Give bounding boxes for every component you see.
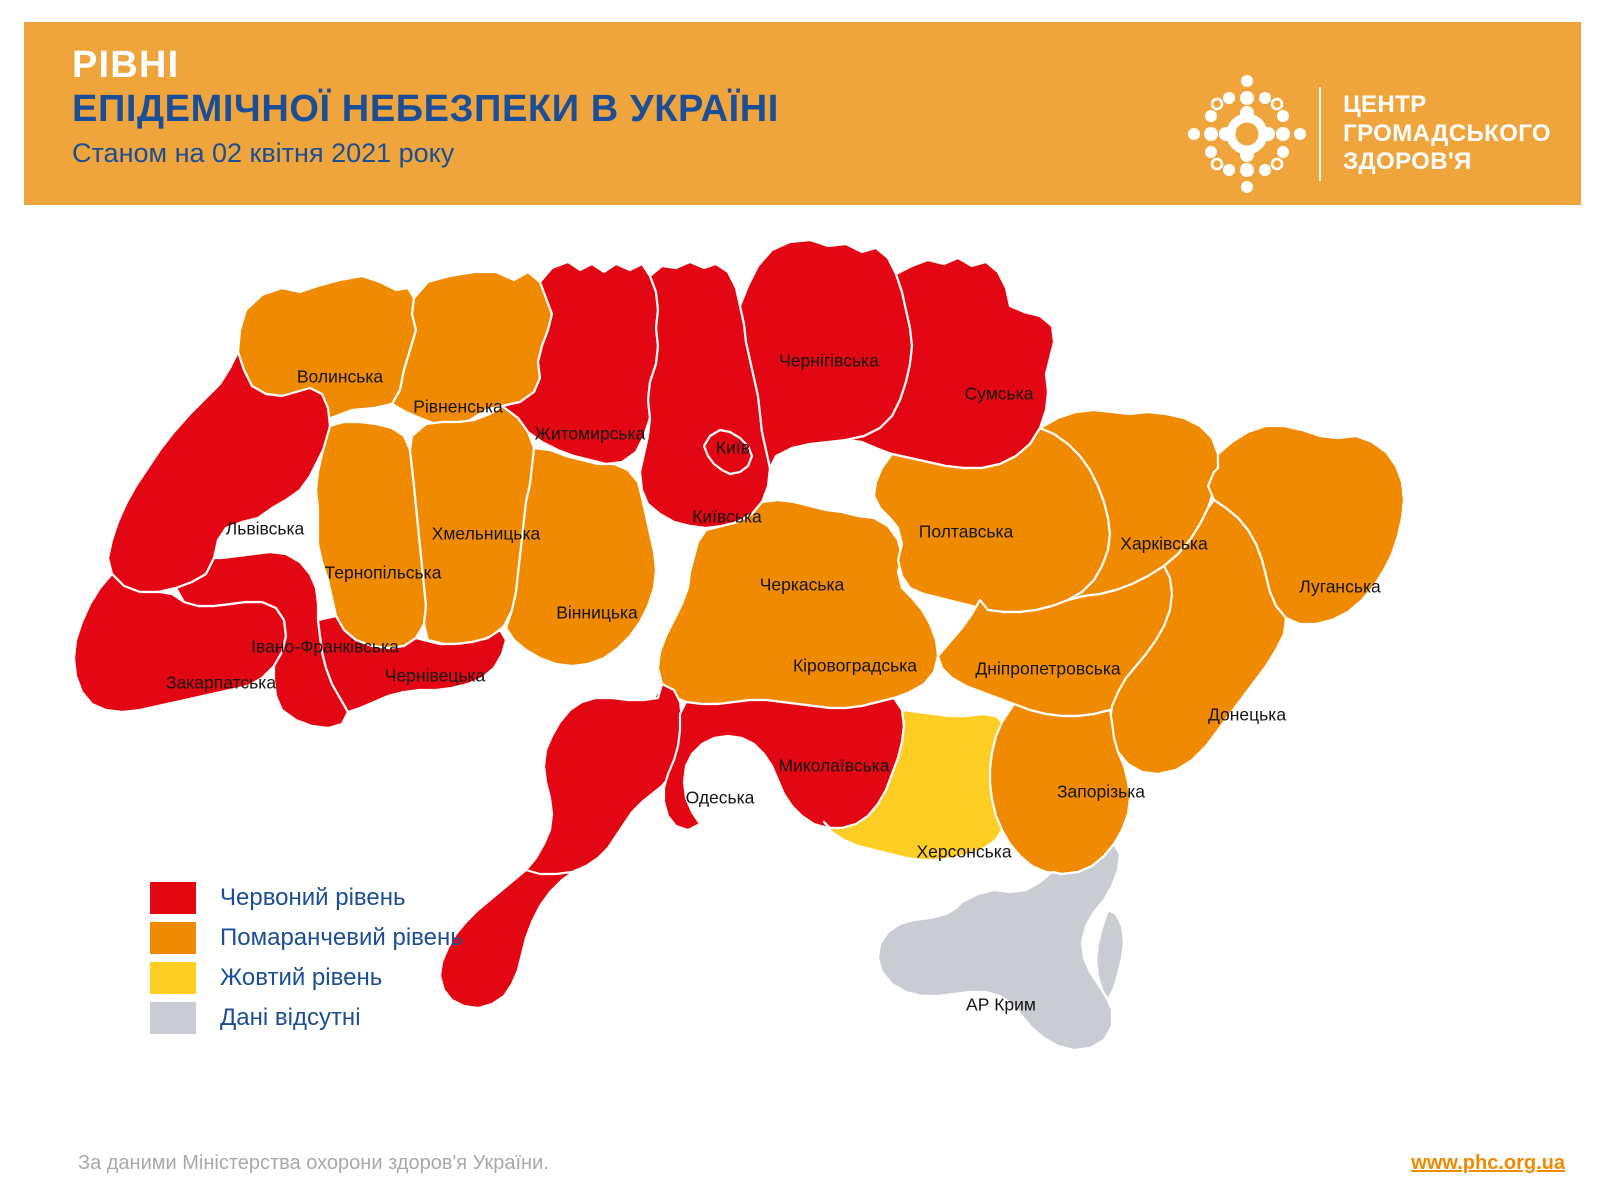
phc-logo: ЦЕНТР ГРОМАДСЬКОГО ЗДОРОВ'Я <box>1183 70 1551 198</box>
region-ar-krym-spit[interactable] <box>1096 910 1124 1000</box>
legend-item-yellow: Жовтий рівень <box>148 958 463 998</box>
region-ternopilska[interactable] <box>316 422 426 648</box>
legend-swatch-orange <box>148 920 198 956</box>
legend: Червоний рівень Помаранчевий рівень Жовт… <box>148 878 463 1038</box>
logo-divider <box>1319 87 1321 181</box>
legend-label-red: Червоний рівень <box>220 886 406 910</box>
label-odeska: Одеська <box>686 788 755 808</box>
legend-swatch-yellow <box>148 960 198 996</box>
legend-label-no-data: Дані відсутні <box>220 1006 361 1030</box>
legend-label-yellow: Жовтий рівень <box>220 966 382 990</box>
region-mykolaivska[interactable] <box>664 698 904 830</box>
logo-word-line2: ГРОМАДСЬКОГО <box>1343 120 1551 149</box>
page-title-line2: ЕПІДЕМІЧНОЇ НЕБЕЗПЕКИ В УКРАЇНІ <box>72 90 779 128</box>
legend-item-orange: Помаранчевий рівень <box>148 918 463 958</box>
logo-word-line3: ЗДОРОВ'Я <box>1343 148 1551 177</box>
header-banner: РІВНІ ЕПІДЕМІЧНОЇ НЕБЕЗПЕКИ В УКРАЇНІ Ст… <box>24 22 1581 205</box>
legend-item-red: Червоний рівень <box>148 878 463 918</box>
legend-label-orange: Помаранчевий рівень <box>220 926 463 950</box>
region-ar-krym[interactable] <box>878 844 1120 1050</box>
logo-word-line1: ЦЕНТР <box>1343 91 1551 120</box>
legend-swatch-red <box>148 880 198 916</box>
header-text-block: РІВНІ ЕПІДЕМІЧНОЇ НЕБЕЗПЕКИ В УКРАЇНІ Ст… <box>72 46 779 167</box>
footer-website-link[interactable]: www.phc.org.ua <box>1411 1152 1565 1175</box>
page-title-line1: РІВНІ <box>72 46 779 84</box>
logo-wordmark: ЦЕНТР ГРОМАДСЬКОГО ЗДОРОВ'Я <box>1343 91 1551 177</box>
page-subtitle-date: Станом на 02 квітня 2021 року <box>72 140 779 167</box>
legend-swatch-no-data <box>148 1000 198 1036</box>
region-kirovohradska[interactable] <box>658 500 938 708</box>
region-odeska-main[interactable] <box>526 684 682 874</box>
legend-item-no-data: Дані відсутні <box>148 998 463 1038</box>
footer-source-note: За даними Міністерства охорони здоров'я … <box>78 1152 549 1175</box>
phc-logo-mark-icon <box>1183 70 1311 198</box>
